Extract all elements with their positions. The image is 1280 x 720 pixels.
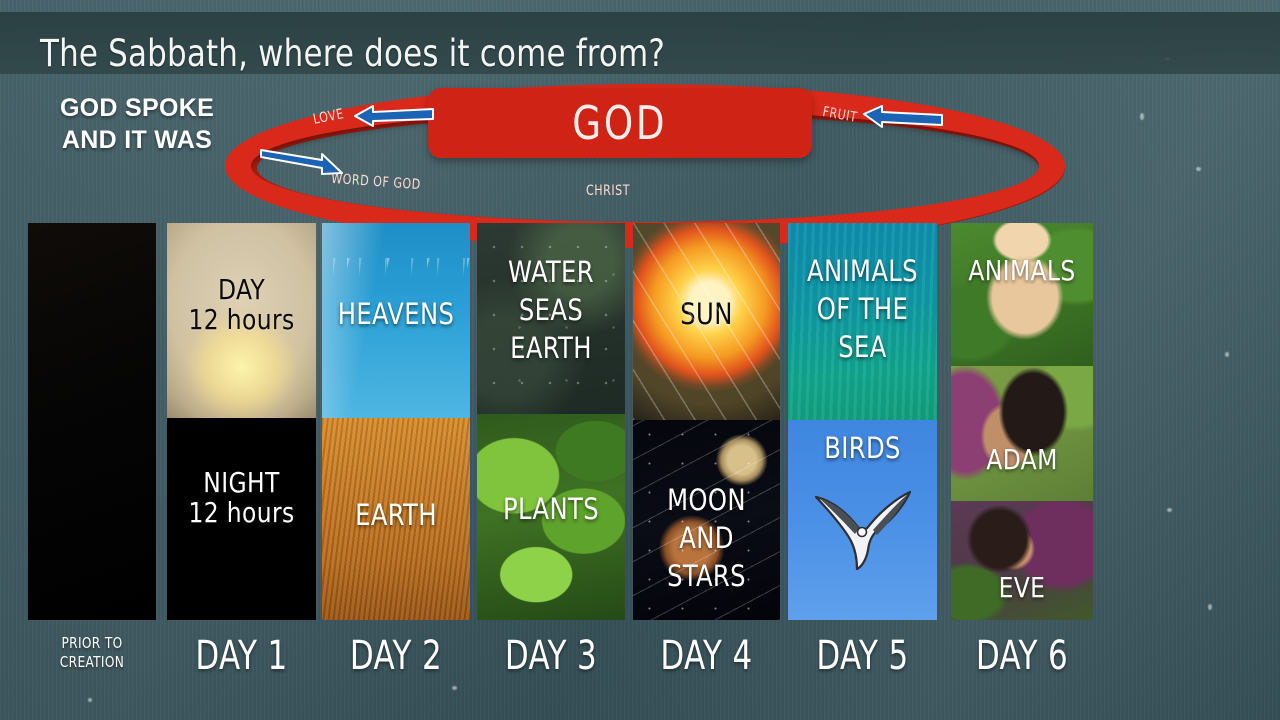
column-day-2[interactable]: HEAVENS EARTH xyxy=(322,223,470,620)
title-band: The Sabbath, where does it come from? xyxy=(0,12,1280,74)
panel-caption: ADAM xyxy=(956,445,1088,475)
label-line-1: PRIOR TO xyxy=(34,634,149,653)
column-day-4[interactable]: SUN MOON AND STARS xyxy=(633,223,780,620)
panel-caption: NIGHT 12 hours xyxy=(172,468,311,528)
panel-void xyxy=(28,223,156,620)
creation-days-row: DAY 12 hours NIGHT 12 hours HEAVENS EART… xyxy=(0,223,1280,623)
panel-earth: EARTH xyxy=(322,418,470,620)
panel-animals-of-the-sea: ANIMALS OF THE SEA xyxy=(788,223,937,420)
ring-label-christ: CHRIST xyxy=(586,183,630,199)
panel-animals: ANIMALS xyxy=(951,223,1093,366)
panel-birds: BIRDS xyxy=(788,420,937,620)
panel-plants: PLANTS xyxy=(477,414,625,620)
panel-night: NIGHT 12 hours xyxy=(167,418,316,620)
column-day-3[interactable]: WATER SEAS EARTH PLANTS xyxy=(477,223,625,620)
panel-caption: ANIMALS xyxy=(956,256,1088,286)
panel-water-seas-earth: WATER SEAS EARTH xyxy=(477,223,625,414)
background-speck xyxy=(1196,167,1201,171)
column-label-day-1: DAY 1 xyxy=(177,633,305,679)
background-speck xyxy=(452,686,457,690)
god-label: GOD xyxy=(573,96,668,150)
column-label-day-5: DAY 5 xyxy=(798,633,926,679)
panel-moon-and-stars: MOON AND STARS xyxy=(633,420,780,620)
background-speck xyxy=(88,698,92,702)
panel-caption: DAY 12 hours xyxy=(172,275,311,335)
seagull-icon xyxy=(811,487,915,573)
column-label-day-2: DAY 2 xyxy=(332,633,459,679)
panel-caption: PLANTS xyxy=(482,494,620,525)
slide-canvas: The Sabbath, where does it come from? GO… xyxy=(0,0,1280,720)
column-label-day-3: DAY 3 xyxy=(487,633,614,679)
panel-caption: HEAVENS xyxy=(327,299,465,330)
panel-caption: EARTH xyxy=(327,500,465,531)
arrow-right-icon xyxy=(258,149,344,177)
label-line-2: CREATION xyxy=(34,653,149,672)
panel-caption: EVE xyxy=(956,573,1088,603)
arrow-left-icon xyxy=(353,104,435,128)
panel-caption: MOON AND STARS xyxy=(638,481,775,595)
god-box: GOD xyxy=(428,88,812,158)
panel-eve: EVE xyxy=(951,501,1093,620)
column-day-5[interactable]: ANIMALS OF THE SEA BIRDS xyxy=(788,223,937,620)
god-ring-diagram: GOD LOVE FRUIT WORD OF GOD CHRIST xyxy=(225,84,1025,214)
god-spoke-caption: GOD SPOKE AND IT WAS xyxy=(42,92,232,156)
panel-heavens: HEAVENS xyxy=(322,223,470,418)
panel-caption: WATER SEAS EARTH xyxy=(482,253,620,367)
background-speck xyxy=(1140,113,1144,120)
column-day-1[interactable]: DAY 12 hours NIGHT 12 hours xyxy=(167,223,316,620)
column-day-6[interactable]: ANIMALS ADAM EVE xyxy=(951,223,1093,620)
page-title: The Sabbath, where does it come from? xyxy=(40,32,665,75)
panel-caption: SUN xyxy=(638,299,775,330)
panel-adam: ADAM xyxy=(951,366,1093,501)
panel-sun: SUN xyxy=(633,223,780,420)
panel-light-bulb: DAY 12 hours xyxy=(167,223,316,418)
arrow-left-icon xyxy=(862,104,944,128)
column-label-day-6: DAY 6 xyxy=(961,633,1083,679)
column-label-prior-to-creation: PRIOR TO CREATION xyxy=(34,634,149,672)
panel-caption: BIRDS xyxy=(793,433,932,464)
column-prior-to-creation[interactable] xyxy=(28,223,156,620)
panel-caption: ANIMALS OF THE SEA xyxy=(793,252,932,366)
column-label-day-4: DAY 4 xyxy=(643,633,769,679)
